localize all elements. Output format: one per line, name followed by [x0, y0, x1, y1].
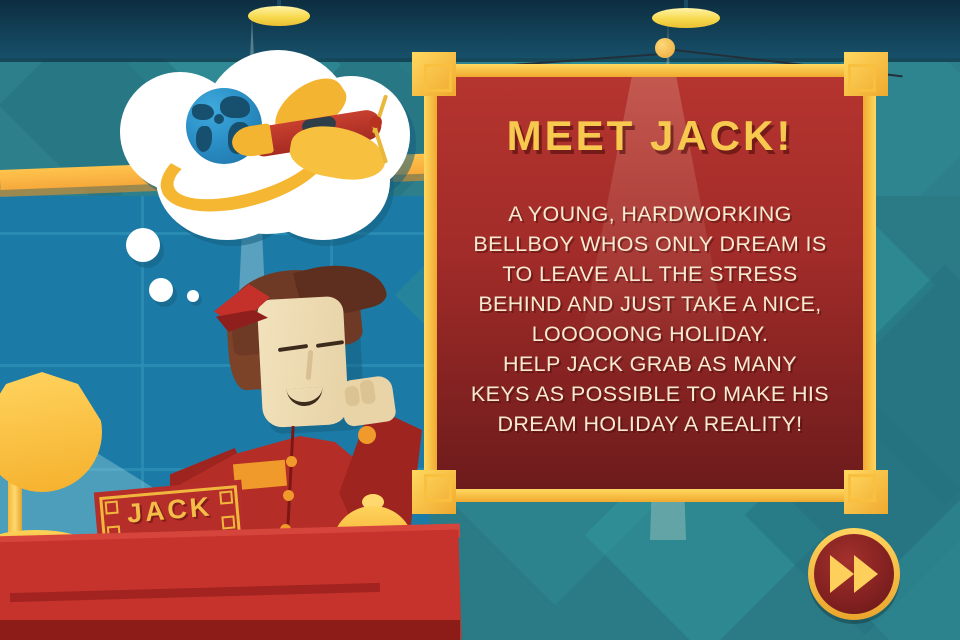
- hand: [339, 375, 397, 428]
- story-body-line: A YOUNG, HARDWORKING: [450, 199, 850, 229]
- thought-dot: [126, 228, 160, 262]
- frame-bar-bottom: [424, 489, 876, 502]
- story-body-line: TO LEAVE ALL THE STRESS: [450, 259, 850, 289]
- wire-bead: [655, 38, 675, 58]
- shoulder-button: [358, 426, 376, 444]
- frame-bar-right: [863, 64, 876, 502]
- frame-corner-ornament: [412, 464, 462, 514]
- fast-forward-icon: [830, 555, 854, 593]
- story-body-line: LOOOOONG HOLIDAY.: [450, 319, 850, 349]
- story-body-line: BEHIND AND JUST TAKE A NICE,: [450, 289, 850, 319]
- page-title: MEET JACK!: [437, 112, 863, 160]
- ceiling-lamp-icon: [248, 6, 310, 26]
- desk-base-shadow: [0, 620, 460, 640]
- next-button-inner: [814, 534, 894, 614]
- story-body-line: BELLBOY WHOS ONLY DREAM IS: [450, 229, 850, 259]
- story-body-line: HELP JACK GRAB AS MANY: [450, 349, 850, 379]
- uniform-button: [286, 456, 297, 467]
- airplane-icon: [222, 80, 402, 190]
- face: [257, 296, 350, 428]
- next-button[interactable]: [808, 528, 900, 620]
- frame-corner-ornament: [412, 52, 462, 102]
- frame-corner-ornament: [838, 52, 888, 102]
- fast-forward-icon: [854, 555, 878, 593]
- story-body-line: DREAM HOLIDAY A REALITY!: [450, 409, 850, 439]
- frame-bar-left: [424, 64, 437, 502]
- ceiling-lamp-icon: [652, 8, 720, 28]
- frame-corner-ornament: [838, 464, 888, 514]
- story-body-line: KEYS AS POSSIBLE TO MAKE HIS: [450, 379, 850, 409]
- uniform-button: [283, 490, 294, 501]
- story-body-text: A YOUNG, HARDWORKINGBELLBOY WHOS ONLY DR…: [450, 199, 850, 439]
- story-frame: MEET JACK! A YOUNG, HARDWORKINGBELLBOY W…: [424, 64, 876, 502]
- game-cutscene-screen: JACK MEET JACK! A YOUNG, HARDWOR: [0, 0, 960, 640]
- frame-bar-top: [424, 64, 876, 77]
